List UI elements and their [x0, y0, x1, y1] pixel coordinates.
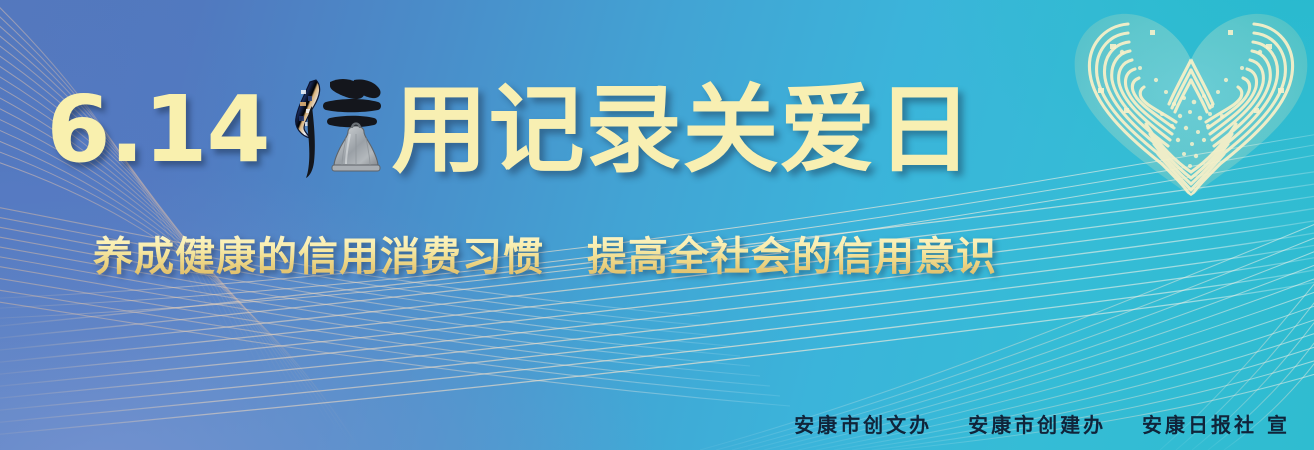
- heart-fingerprint-icon: [1066, 8, 1314, 204]
- credits-line: 安康市创文办 安康市创建办 安康日报社 宣: [794, 409, 1290, 438]
- credit-org-3: 安康日报社 宣: [1142, 409, 1290, 438]
- subtitle-right: 提高全社会的信用意识: [587, 224, 997, 282]
- date-label: 6.14: [47, 84, 286, 176]
- credit-awareness-day-banner: 6.14: [0, 0, 1314, 450]
- credit-org-1: 安康市创文办: [794, 409, 932, 438]
- title-main-text: 用记录关爱日: [392, 82, 974, 178]
- seal-character-xin: [286, 76, 390, 184]
- title-row: 6.14: [0, 74, 1020, 186]
- subtitle-row: 养成健康的信用消费习惯 提高全社会的信用意识: [0, 224, 1090, 282]
- credit-org-2: 安康市创建办: [968, 409, 1106, 438]
- subtitle-left: 养成健康的信用消费习惯: [93, 224, 544, 282]
